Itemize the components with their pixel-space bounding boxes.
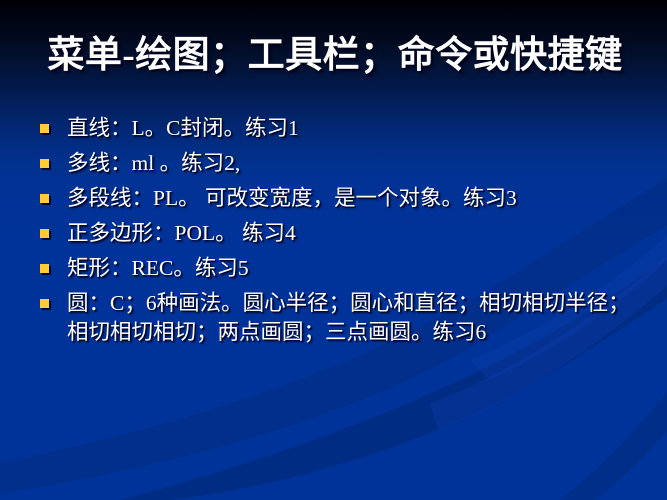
presentation-slide: 菜单-绘图；工具栏；命令或快捷键 直线：L。C封闭。练习1 多线：ml 。练习2…: [0, 0, 667, 500]
slide-title-block: 菜单-绘图；工具栏；命令或快捷键: [40, 33, 630, 79]
slide-bullet-list: 直线：L。C封闭。练习1 多线：ml 。练习2, 多段线：PL。 可改变宽度，是…: [40, 114, 640, 353]
list-item-label: 直线：L。C封闭。练习1: [67, 114, 640, 143]
bullet-square-icon: [40, 194, 49, 203]
page-title: 菜单-绘图；工具栏；命令或快捷键: [47, 33, 622, 79]
bullet-square-icon: [40, 229, 49, 238]
list-item: 正多边形：POL。 练习4: [40, 219, 640, 248]
list-item: 矩形：REC。练习5: [40, 254, 640, 283]
list-item: 多线：ml 。练习2,: [40, 149, 640, 178]
bullet-square-icon: [40, 124, 49, 133]
list-item-label: 正多边形：POL。 练习4: [67, 219, 640, 248]
list-item-label: 矩形：REC。练习5: [67, 254, 640, 283]
bullet-square-icon: [40, 159, 49, 168]
list-item: 直线：L。C封闭。练习1: [40, 114, 640, 143]
bullet-square-icon: [40, 264, 49, 273]
list-item: 圆：C；6种画法。圆心半径；圆心和直径；相切相切半径；相切相切相切；两点画圆；三…: [40, 289, 640, 347]
list-item-label: 圆：C；6种画法。圆心半径；圆心和直径；相切相切半径；相切相切相切；两点画圆；三…: [67, 289, 640, 347]
list-item-label: 多段线：PL。 可改变宽度，是一个对象。练习3: [67, 184, 640, 213]
bullet-square-icon: [40, 299, 49, 308]
list-item: 多段线：PL。 可改变宽度，是一个对象。练习3: [40, 184, 640, 213]
list-item-label: 多线：ml 。练习2,: [67, 149, 640, 178]
